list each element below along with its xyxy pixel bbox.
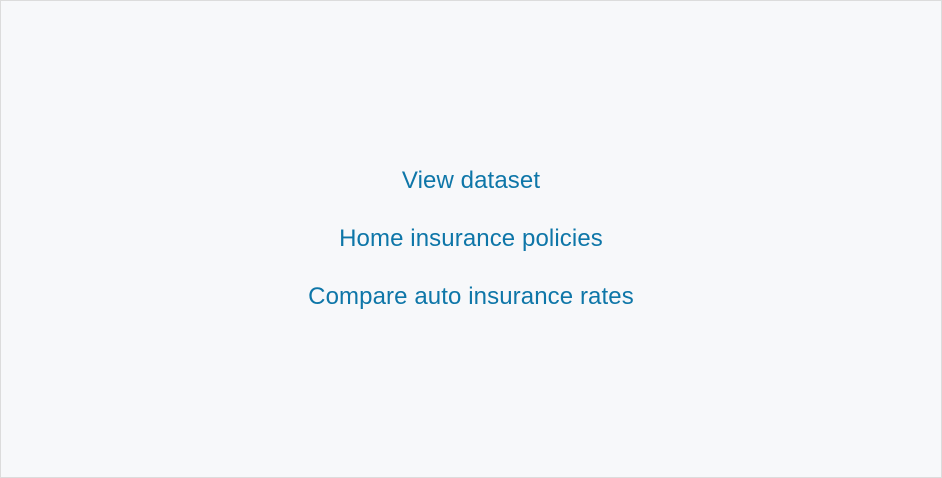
list-item: Home insurance policies — [1, 210, 941, 268]
link-home-insurance-policies[interactable]: Home insurance policies — [339, 224, 603, 254]
link-list: View dataset Home insurance policies Com… — [1, 152, 941, 326]
list-item: View dataset — [1, 152, 941, 210]
page-surface: View dataset Home insurance policies Com… — [0, 0, 942, 478]
list-item: Compare auto insurance rates — [1, 268, 941, 326]
link-compare-auto-insurance-rates[interactable]: Compare auto insurance rates — [308, 282, 634, 312]
link-view-dataset[interactable]: View dataset — [402, 166, 540, 196]
